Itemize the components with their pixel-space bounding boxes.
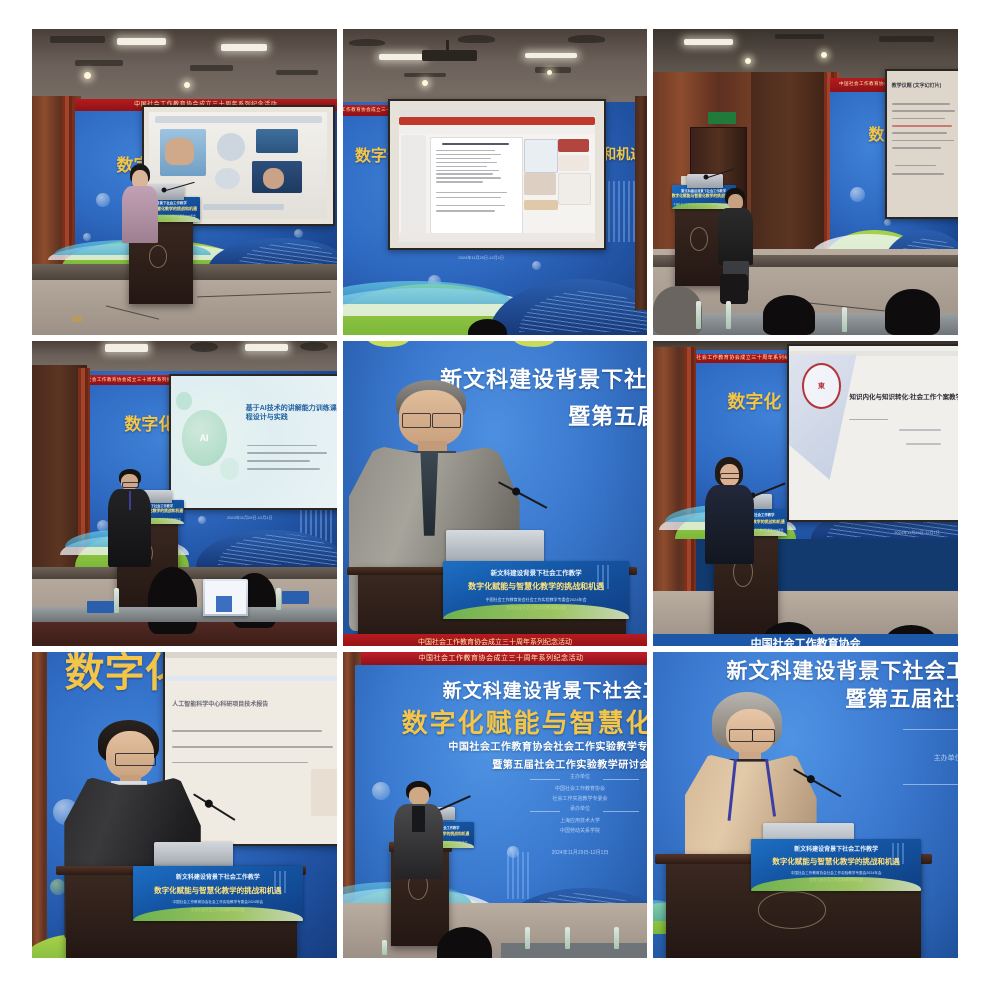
photo-cell-middle-right[interactable]: 中国社会工作教育协会成立三十周年系列纪念活动 数字化 東 知识内化与知识转化:社… [653, 341, 958, 647]
backdrop-title-line3: 中国社会工作教育协会社会工作实验教学专委会2024年会 [448, 738, 647, 753]
podium-sign-line3: 中国社会工作教育协会社会工作实验教学专委会2024年会 [443, 597, 629, 603]
photo-cell-top-left[interactable]: 中国社会工作教育协会成立三十周年系列纪念活动 数字化 和机遇 [32, 29, 337, 335]
projection-screen: AI 基于AI技术的讲解能力训练课程设计与实践 [169, 374, 337, 509]
audience-laptop [203, 579, 249, 616]
anniversary-strip: 中国社会工作教育协会成立三十周年系列纪念活动 [355, 652, 647, 664]
photo-cell-bottom-right[interactable]: 新文科建设背景下社会工作教学 暨第五届社会工作实验教学研讨会 主办单位 [653, 652, 958, 958]
ceiling-projector [422, 50, 477, 61]
backdrop-date: 2024年11月29日-12月1日 [227, 515, 273, 521]
anniversary-strip: 中国社会工作教育协会成立三十周年系列纪念活动 [90, 375, 174, 385]
host-label: 主办单位 [560, 773, 601, 780]
backdrop-title-line4: 暨第五届社会工作实验教学研讨会 [568, 399, 647, 431]
anniversary-strip: 中国社会工作教育协会成立三十周年系列纪念活动 [696, 354, 796, 363]
photo-cell-top-right[interactable]: 中国社会工作教育协会成立三十周年系列纪念活动 数字化 教学议题 (文字幻灯片) [653, 29, 958, 335]
photo-cell-middle-center[interactable]: 新文科建设背景下社会工作教学 暨第五届社会工作实验教学研讨会 [343, 341, 648, 647]
photo-cell-top-center[interactable]: 中国社会工作教育协会成立三十周年系列纪念活动 数字化 和机遇 [343, 29, 648, 335]
backdrop-gold-text: 数字化 [727, 388, 781, 414]
organizer-label: 承办单位 [560, 805, 601, 812]
next-cell-bleed-text: 中国社会工作教育协会 [653, 634, 958, 646]
backdrop-date: 2024年11月29日-12月1日 [894, 530, 940, 536]
slide-title: 教学议题 (文字幻灯片) [892, 82, 942, 89]
scene-full-backdrop-with-speaker: 中国社会工作教育协会成立三十周年系列纪念活动 新文科建设背景下社会工作教学 数字… [343, 652, 648, 958]
organizer-1: 上海应用技术大学 [539, 817, 621, 824]
host-label: 主办单位 [934, 753, 958, 763]
podium-sign-line3: 中国社会工作教育协会社会工作实验教学专委会2024年会 [133, 900, 304, 905]
university-seal: 東 [802, 363, 841, 409]
backdrop-gold-text: 数字化 [124, 410, 175, 435]
podium-emblem [758, 891, 827, 928]
speaker-person [705, 457, 754, 564]
speaker-person [394, 781, 443, 879]
backdrop-title-line2: 数字化赋能与智慧化转型 [402, 703, 648, 740]
speaker-person [120, 164, 160, 243]
podium-sign: 新文科建设背景下社会工作教学 数字化赋能与智慧化教学的挑战和机遇 中国社会工作教… [751, 839, 922, 891]
exit-sign [708, 112, 735, 124]
photo-cell-bottom-center[interactable]: 中国社会工作教育协会成立三十周年系列纪念活动 新文科建设背景下社会工作教学 数字… [343, 652, 648, 958]
speaker-person [108, 469, 151, 567]
photo-cell-middle-left[interactable]: 中国社会工作教育协会成立三十周年系列纪念活动 数字化 AI 基于AI技术的讲解能… [32, 341, 337, 647]
scene-stage-wide-with-exit-sign: 中国社会工作教育协会成立三十周年系列纪念活动 数字化 教学议题 (文字幻灯片) [653, 29, 958, 335]
scene-closeup-senior-female-speaker: 新文科建设背景下社会工作教学 暨第五届社会工作实验教学研讨会 主办单位 [653, 652, 958, 958]
projection-screen [388, 99, 605, 250]
backdrop-title-line4: 暨第五届社会工作实验教学研讨会 [492, 756, 647, 771]
scene-projection-screen-powerpoint: 中国社会工作教育协会成立三十周年系列纪念活动 数字化 和机遇 [343, 29, 648, 335]
organizer-2: 中国劳动关系学院 [539, 827, 621, 834]
ai-circle-graphic: AI [182, 410, 227, 465]
host-2: 社会工作实验教学专委会 [539, 795, 621, 802]
slide-title: 知识内化与知识转化:社会工作个案教学探讨 [849, 391, 958, 401]
podium-sign: 新文科建设背景下社会工作教学 数字化赋能与智慧化教学的挑战和机遇 中国社会工作教… [133, 866, 304, 921]
backdrop-title-line4: 暨第五届社会工作实验教学研讨会 [845, 683, 958, 713]
backdrop-title-line1: 新文科建设背景下社会工作教学 [726, 655, 958, 685]
backdrop-date: 2024年11月29日-12月1日 [536, 849, 624, 856]
scene-case-teaching-slide: 中国社会工作教育协会成立三十周年系列纪念活动 数字化 東 知识内化与知识转化:社… [653, 341, 958, 647]
podium-sign: 新文科建设背景下社会工作教学 数字化赋能与智慧化教学的挑战和机遇 中国社会工作教… [443, 561, 629, 619]
scene-ai-slide-presentation: 中国社会工作教育协会成立三十周年系列纪念活动 数字化 AI 基于AI技术的讲解能… [32, 341, 337, 647]
projection-screen: 東 知识内化与知识转化:社会工作个案教学探讨 [787, 344, 958, 522]
scene-closeup-speaker-suit-tie: 数字化 人工智能科学中心科研项目技术报告 [32, 652, 337, 958]
host-1: 中国社会工作教育协会 [539, 785, 621, 792]
anniversary-strip: 中国社会工作教育协会成立三十周年系列纪念活动 [343, 634, 648, 646]
photo-cell-bottom-left[interactable]: 数字化 人工智能科学中心科研项目技术报告 [32, 652, 337, 958]
photo-collage-grid: 中国社会工作教育协会成立三十周年系列纪念活动 数字化 和机遇 [32, 29, 958, 958]
projection-screen: 教学议题 (文字幻灯片) [885, 69, 958, 220]
backdrop-title-line1: 新文科建设背景下社会工作教学 [443, 676, 648, 703]
slide-title: 基于AI技术的讲解能力训练课程设计与实践 [246, 405, 337, 423]
scene-closeup-speaker-gray-jacket: 新文科建设背景下社会工作教学 暨第五届社会工作实验教学研讨会 [343, 341, 648, 647]
scene-stage-left-podium-video-call: 中国社会工作教育协会成立三十周年系列纪念活动 数字化 和机遇 [32, 29, 337, 335]
podium-sign-line3: 中国社会工作教育协会社会工作实验教学专委会2024年会 [751, 871, 922, 876]
backdrop-date: 2024年11月29日-12月1日 [458, 255, 504, 261]
slide-title: 人工智能科学中心科研项目技术报告 [172, 699, 268, 708]
